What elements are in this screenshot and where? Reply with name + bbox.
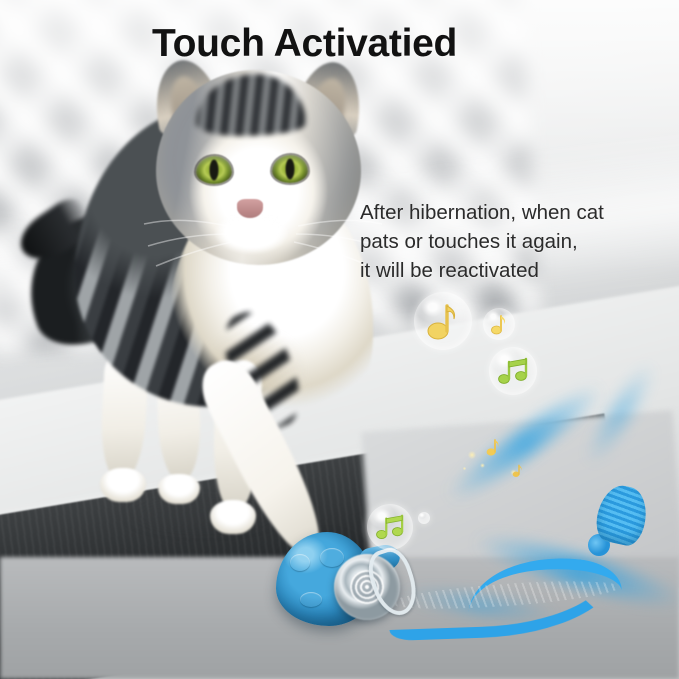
body-line-1: After hibernation, when cat <box>360 198 670 227</box>
bubble-small-yellow-note <box>483 308 515 340</box>
bubble-tiny <box>418 512 430 524</box>
mini-eighth-note-icon <box>512 463 523 478</box>
toy-paw-print-emboss-2 <box>320 548 344 567</box>
cat-paw-back-right <box>158 474 200 504</box>
sparkle-icon <box>466 449 478 461</box>
beamed-double-note-icon <box>498 356 528 386</box>
bubble-toy-green-note <box>367 504 413 550</box>
cat-paw-front-standing <box>210 500 256 534</box>
cat-whiskers-icon <box>138 190 388 280</box>
toy-paw-print-emboss-1 <box>290 554 310 571</box>
cat-paw-back-left <box>100 468 146 502</box>
bubble-green-beamed-note <box>489 347 537 395</box>
sparkle-icon <box>479 462 486 469</box>
page-title: Touch Activatied <box>152 22 457 66</box>
product-marketing-poster: Touch Activatied After hibernation, when… <box>0 0 679 679</box>
cat-eye-left <box>196 156 232 184</box>
body-line-3: it will be reactivated <box>360 256 670 285</box>
cat-eye-right <box>272 155 308 183</box>
eighth-note-icon <box>426 301 460 341</box>
cat-pupil-right <box>286 159 295 180</box>
body-description: After hibernation, when cat pats or touc… <box>360 198 670 285</box>
beamed-double-note-icon <box>376 513 404 541</box>
toy-paw-print-emboss-3 <box>300 592 322 607</box>
eighth-note-icon <box>491 313 507 335</box>
sparkle-icon <box>462 466 467 471</box>
mini-eighth-note-icon <box>486 437 500 457</box>
cat-pupil-left <box>210 160 219 181</box>
body-line-2: pats or touches it again, <box>360 227 670 256</box>
bubble-large-yellow-note <box>414 292 472 350</box>
